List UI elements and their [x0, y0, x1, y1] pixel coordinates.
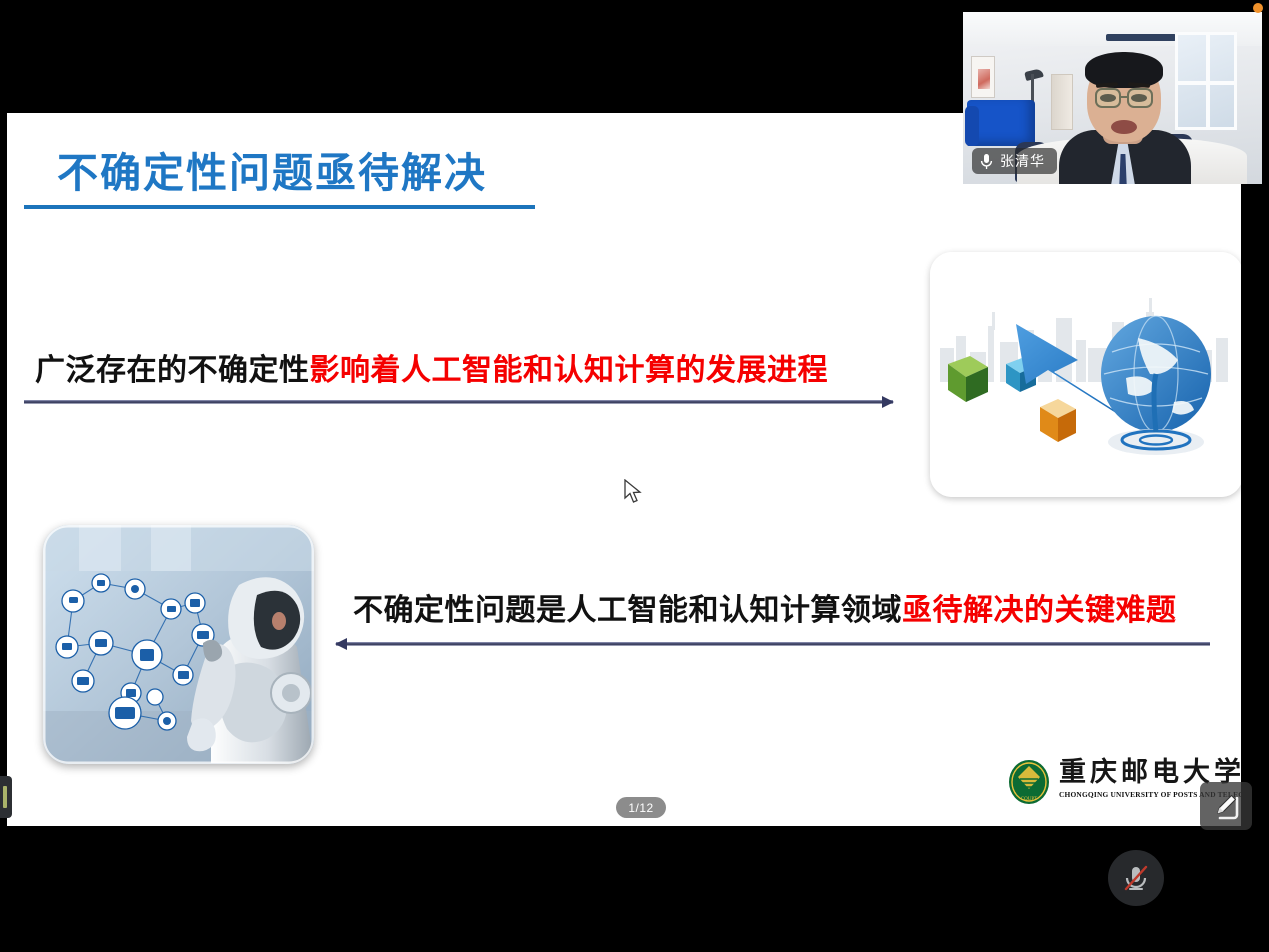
presentation-window: 不确定性问题亟待解决 广泛存在的不确定性影响着人工智能和认知计算的发展进程 不确…	[0, 0, 1269, 952]
recording-indicator-dot	[1253, 3, 1263, 13]
statement-line-1: 广泛存在的不确定性影响着人工智能和认知计算的发展进程	[35, 345, 828, 389]
room-window	[1175, 32, 1237, 130]
svg-text:CQUPT: CQUPT	[1021, 797, 1037, 802]
statement-line-1-black: 广泛存在的不确定性	[35, 353, 310, 388]
statement-line-1-red: 影响着人工智能和认知计算的发展进程	[310, 353, 829, 388]
arrow-head-right-icon	[882, 396, 894, 408]
microphone-muted-icon	[1120, 862, 1152, 894]
participant-hair	[1085, 52, 1163, 88]
page-title: 不确定性问题亟待解决	[57, 139, 487, 199]
slide-canvas[interactable]: 不确定性问题亟待解决 广泛存在的不确定性影响着人工智能和认知计算的发展进程 不确…	[7, 113, 1241, 826]
statement-line-2: 不确定性问题是人工智能和认知计算领域亟待解决的关键难题	[353, 585, 1177, 629]
participant-name-badge: 张清华	[972, 148, 1057, 174]
arrow-head-left-icon	[335, 638, 347, 650]
arrow-left-line-2	[336, 638, 1210, 650]
mute-microphone-button[interactable]	[1108, 850, 1164, 906]
university-logo: CQUPT 重庆邮电大学 CHONGQING UNIVERSITY OF POS…	[1007, 759, 1229, 819]
robot-iot-illustration	[43, 525, 314, 764]
eyeglass-lens-left	[1095, 88, 1121, 108]
wall-picture-frame	[971, 56, 995, 98]
mouse-pointer-icon	[624, 479, 644, 505]
cqupt-emblem-icon: CQUPT	[1007, 759, 1051, 805]
microphone-icon	[980, 153, 993, 170]
robot-iot-svg	[43, 525, 314, 764]
panel-drag-handle[interactable]	[0, 776, 12, 818]
frame-artwork	[978, 69, 990, 89]
sofa-arm	[965, 106, 979, 146]
participant-mouth	[1111, 120, 1137, 134]
blue-sofa	[967, 100, 1035, 146]
window-mullion-vertical	[1206, 35, 1210, 127]
room-shelf	[1051, 74, 1073, 130]
statement-line-2-black: 不确定性问题是人工智能和认知计算领域	[353, 593, 902, 628]
page-indicator: 1/12	[616, 797, 666, 818]
globe-growth-illustration	[930, 252, 1241, 497]
annotate-button[interactable]	[1200, 782, 1252, 830]
ceiling-light	[1106, 34, 1176, 41]
arrow-bar	[24, 400, 893, 404]
eyeglass-lens-right	[1127, 88, 1153, 108]
globe-growth-svg	[930, 252, 1241, 497]
participant-video-tile[interactable]: 张清华	[963, 12, 1262, 184]
participant-name: 张清华	[1000, 151, 1045, 171]
title-underline-rule	[24, 205, 535, 209]
statement-line-2-red: 亟待解决的关键难题	[902, 593, 1177, 628]
arrow-bar	[336, 642, 1210, 646]
eyeglass-bridge	[1121, 96, 1129, 98]
pen-annotate-icon	[1211, 791, 1241, 821]
arrow-right-line-1	[24, 396, 893, 408]
